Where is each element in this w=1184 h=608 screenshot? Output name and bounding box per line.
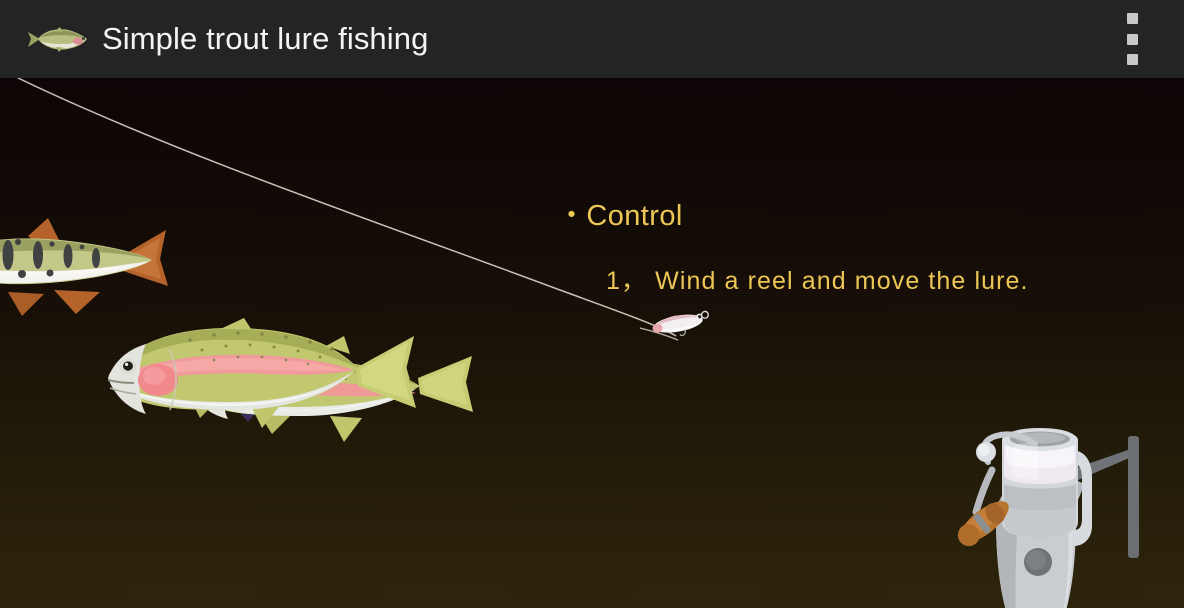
trout-icon	[26, 22, 90, 56]
title-bar: Simple trout lure fishing	[0, 0, 1184, 78]
menu-dot	[1127, 34, 1138, 45]
overflow-menu-button[interactable]	[1122, 13, 1142, 65]
game-scene[interactable]: ・Control 1， Wind a reel and move the lur…	[0, 78, 1184, 608]
spinning-reel[interactable]	[0, 78, 1184, 608]
game-window: Simple trout lure fishing	[0, 0, 1184, 608]
menu-dot	[1127, 13, 1138, 24]
page-title: Simple trout lure fishing	[102, 21, 428, 57]
menu-dot	[1127, 54, 1138, 65]
